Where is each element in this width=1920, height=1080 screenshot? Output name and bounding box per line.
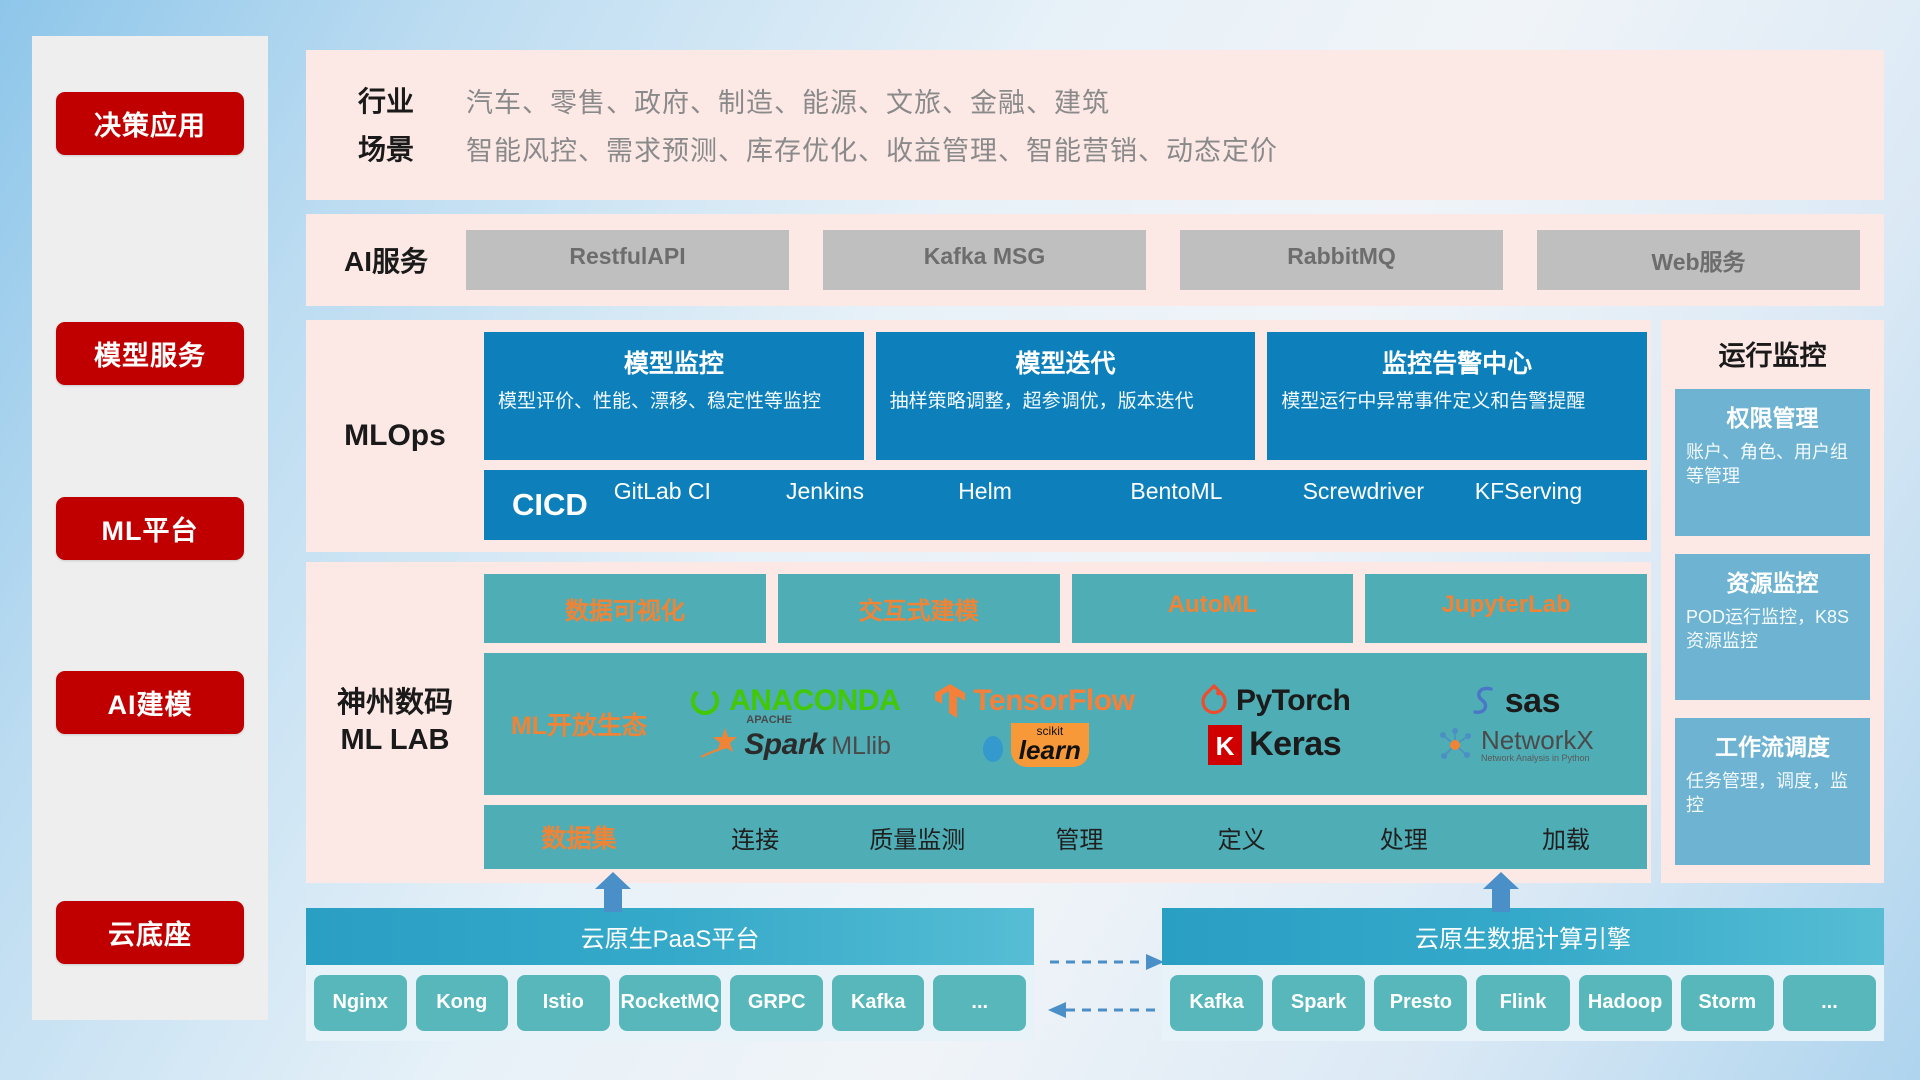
tool-chip-jupyterlab[interactable]: JupyterLab: [1365, 574, 1647, 643]
dataset-item-define[interactable]: 定义: [1161, 820, 1323, 855]
svg-text:K: K: [1216, 731, 1235, 761]
up-arrow-paas-icon: [590, 872, 636, 912]
ml-lab-label-line2: ML LAB: [337, 722, 453, 758]
logo-networkx-text: NetworkX: [1481, 727, 1594, 753]
logo-mllib-text: MLlib: [831, 732, 891, 761]
ml-ecosystem-logos: ANACONDA TensorFlow: [674, 682, 1635, 767]
mlops-card-desc: 模型评价、性能、漂移、稳定性等监控: [498, 389, 850, 414]
anaconda-icon: [688, 684, 722, 718]
tool-chip-interactive-modeling[interactable]: 交互式建模: [778, 574, 1060, 643]
ai-service-items: RestfulAPI Kafka MSG RabbitMQ Web服务: [466, 230, 1860, 290]
monitor-card-title: 资源监控: [1686, 564, 1859, 598]
logo-networkx: NetworkX Network Analysis in Python: [1436, 726, 1594, 764]
architecture-stack: 行业 汽车、零售、政府、制造、能源、文旅、金融、建筑 场景 智能风控、需求预测、…: [306, 50, 1884, 883]
monitor-card-desc: POD运行监控，K8S资源监控: [1686, 605, 1859, 653]
logo-spark-mllib: APACHE Spark MLlib: [697, 725, 891, 765]
logo-sas: sas: [1470, 682, 1560, 721]
engine-chip-storm[interactable]: Storm: [1681, 975, 1774, 1031]
mlops-card-desc: 模型运行中异常事件定义和告警提醒: [1281, 389, 1633, 414]
rail-item-ai-modeling[interactable]: AI建模: [56, 671, 244, 734]
cicd-item-bentoml[interactable]: BentoML: [1130, 478, 1302, 532]
dataset-label: 数据集: [484, 819, 674, 855]
ai-service-chip-restfulapi[interactable]: RestfulAPI: [466, 230, 789, 290]
layer-rail: 决策应用 模型服务 ML平台 AI建模 云底座: [32, 36, 268, 1020]
logo-keras: K Keras: [1208, 725, 1341, 765]
bidirectional-link-arrows-icon: [1046, 946, 1166, 1032]
dataset-items: 连接 质量监测 管理 定义 处理 加载: [674, 820, 1647, 855]
logo-tensorflow-text: TensorFlow: [973, 684, 1134, 718]
data-engine-title: 云原生数据计算引擎: [1162, 908, 1884, 965]
engine-chip-more[interactable]: ...: [1783, 975, 1876, 1031]
dataset-item-process[interactable]: 处理: [1323, 820, 1485, 855]
ai-modeling-content: 数据可视化 交互式建模 AutoML JupyterLab ML开放生态: [484, 574, 1651, 869]
logo-keras-text: Keras: [1249, 725, 1341, 764]
mlops-band: MLOps 模型监控 模型评价、性能、漂移、稳定性等监控 模型迭代 抽样策略调整…: [306, 320, 1651, 552]
modeling-tool-row: 数据可视化 交互式建模 AutoML JupyterLab: [484, 574, 1647, 643]
rail-slot: AI建模: [56, 615, 244, 789]
data-engine-chips: Kafka Spark Presto Flink Hadoop Storm ..…: [1162, 965, 1884, 1041]
scenario-values: 智能风控、需求预测、库存优化、收益管理、智能营销、动态定价: [466, 129, 1278, 168]
logo-anaconda: ANACONDA: [688, 684, 900, 718]
industry-row: 行业 汽车、零售、政府、制造、能源、文旅、金融、建筑: [306, 80, 1884, 120]
runtime-monitoring-panel: 运行监控 权限管理 账户、角色、用户组等管理 资源监控 POD运行监控，K8S资…: [1661, 320, 1884, 883]
dataset-item-load[interactable]: 加载: [1485, 820, 1647, 855]
mlops-card-model-iteration[interactable]: 模型迭代 抽样策略调整，超参调优，版本迭代: [876, 332, 1256, 460]
spark-icon: [697, 725, 737, 765]
engine-chip-spark[interactable]: Spark: [1272, 975, 1365, 1031]
middle-left-column: MLOps 模型监控 模型评价、性能、漂移、稳定性等监控 模型迭代 抽样策略调整…: [306, 320, 1651, 883]
paas-chip-rocketmq[interactable]: RocketMQ: [619, 975, 722, 1031]
sas-icon: [1470, 683, 1498, 719]
rail-item-ml-platform[interactable]: ML平台: [56, 497, 244, 560]
tool-chip-automl[interactable]: AutoML: [1072, 574, 1354, 643]
monitor-card-resource[interactable]: 资源监控 POD运行监控，K8S资源监控: [1675, 554, 1870, 701]
cicd-title: CICD: [484, 487, 614, 523]
cicd-item-gitlab-ci[interactable]: GitLab CI: [614, 478, 786, 532]
logo-learn-text: learn: [1019, 737, 1081, 763]
logo-scikit-learn: scikit learn: [980, 723, 1089, 767]
mlops-content: 模型监控 模型评价、性能、漂移、稳定性等监控 模型迭代 抽样策略调整，超参调优，…: [484, 332, 1651, 540]
ai-service-chip-web-service[interactable]: Web服务: [1537, 230, 1860, 290]
rail-item-decision-apps[interactable]: 决策应用: [56, 92, 244, 155]
ml-ecosystem-label: ML开放生态: [484, 706, 674, 742]
engine-chip-flink[interactable]: Flink: [1476, 975, 1569, 1031]
mlops-card-alert-center[interactable]: 监控告警中心 模型运行中异常事件定义和告警提醒: [1267, 332, 1647, 460]
dataset-item-connect[interactable]: 连接: [674, 820, 836, 855]
ml-lab-label: 神州数码 ML LAB: [306, 574, 484, 869]
logo-tensorflow: TensorFlow: [934, 682, 1134, 720]
mlops-card-desc: 抽样策略调整，超参调优，版本迭代: [890, 389, 1242, 414]
cloud-base-zone: 云原生PaaS平台 Nginx Kong Istio RocketMQ GRPC…: [306, 890, 1884, 1040]
cicd-item-helm[interactable]: Helm: [958, 478, 1130, 532]
ml-ecosystem-row: ML开放生态 ANACONDA: [484, 653, 1647, 795]
paas-chip-kafka[interactable]: Kafka: [832, 975, 925, 1031]
ml-lab-label-line1: 神州数码: [337, 685, 453, 721]
logo-spark-text: Spark: [744, 728, 825, 761]
monitor-card-permission[interactable]: 权限管理 账户、角色、用户组等管理: [1675, 389, 1870, 536]
data-engine-group: 云原生数据计算引擎 Kafka Spark Presto Flink Hadoo…: [1162, 908, 1884, 1041]
ai-service-label: AI服务: [306, 240, 466, 280]
mlops-cards: 模型监控 模型评价、性能、漂移、稳定性等监控 模型迭代 抽样策略调整，超参调优，…: [484, 332, 1647, 460]
cicd-item-screwdriver[interactable]: Screwdriver: [1303, 478, 1475, 532]
logo-pytorch-text: PyTorch: [1236, 684, 1350, 718]
mlops-card-title: 模型迭代: [890, 344, 1242, 380]
paas-chip-istio[interactable]: Istio: [517, 975, 610, 1031]
ai-service-chip-rabbitmq[interactable]: RabbitMQ: [1180, 230, 1503, 290]
cicd-items: GitLab CI Jenkins Helm BentoML Screwdriv…: [614, 478, 1647, 532]
rail-item-cloud-base[interactable]: 云底座: [56, 901, 244, 964]
industry-values: 汽车、零售、政府、制造、能源、文旅、金融、建筑: [466, 81, 1110, 120]
engine-chip-kafka[interactable]: Kafka: [1170, 975, 1263, 1031]
ai-service-band: AI服务 RestfulAPI Kafka MSG RabbitMQ Web服务: [306, 214, 1884, 306]
ai-modeling-band: 神州数码 ML LAB 数据可视化 交互式建模 AutoML JupyterLa…: [306, 562, 1651, 883]
mlops-card-model-monitoring[interactable]: 模型监控 模型评价、性能、漂移、稳定性等监控: [484, 332, 864, 460]
decision-apps-band: 行业 汽车、零售、政府、制造、能源、文旅、金融、建筑 场景 智能风控、需求预测、…: [306, 50, 1884, 200]
keras-icon: K: [1208, 725, 1242, 765]
paas-chip-grpc[interactable]: GRPC: [730, 975, 823, 1031]
pytorch-icon: [1199, 683, 1229, 719]
logo-networkx-subtext: Network Analysis in Python: [1481, 753, 1594, 763]
paas-chip-nginx[interactable]: Nginx: [314, 975, 407, 1031]
logo-spark-apache-text: APACHE: [746, 714, 792, 726]
runtime-monitoring-title: 运行监控: [1675, 334, 1870, 373]
cicd-item-jenkins[interactable]: Jenkins: [786, 478, 958, 532]
cicd-item-kfserving[interactable]: KFServing: [1475, 478, 1647, 532]
mlops-card-title: 模型监控: [498, 344, 850, 380]
monitor-card-title: 权限管理: [1686, 399, 1859, 433]
mlops-card-title: 监控告警中心: [1281, 344, 1633, 380]
monitor-card-desc: 账户、角色、用户组等管理: [1686, 440, 1859, 488]
paas-title: 云原生PaaS平台: [306, 908, 1034, 965]
scenario-row: 场景 智能风控、需求预测、库存优化、收益管理、智能营销、动态定价: [306, 128, 1884, 168]
tensorflow-icon: [934, 682, 966, 720]
engine-chip-hadoop[interactable]: Hadoop: [1579, 975, 1672, 1031]
networkx-icon: [1436, 726, 1474, 764]
scenario-label: 场景: [306, 128, 466, 168]
middle-zone: MLOps 模型监控 模型评价、性能、漂移、稳定性等监控 模型迭代 抽样策略调整…: [306, 320, 1884, 883]
rail-item-model-service[interactable]: 模型服务: [56, 322, 244, 385]
rail-slot: ML平台: [56, 441, 244, 615]
engine-chip-presto[interactable]: Presto: [1374, 975, 1467, 1031]
paas-chip-kong[interactable]: Kong: [416, 975, 509, 1031]
tool-chip-data-visualization[interactable]: 数据可视化: [484, 574, 766, 643]
rail-slot: 模型服务: [56, 266, 244, 440]
dataset-item-quality-monitor[interactable]: 质量监测: [836, 820, 998, 855]
dataset-item-manage[interactable]: 管理: [998, 820, 1160, 855]
up-arrow-engine-icon: [1478, 872, 1524, 912]
rail-slot: 决策应用: [56, 92, 244, 266]
monitor-card-workflow[interactable]: 工作流调度 任务管理，调度，监控: [1675, 718, 1870, 865]
ai-service-chip-kafka-msg[interactable]: Kafka MSG: [823, 230, 1146, 290]
paas-chip-more[interactable]: ...: [933, 975, 1026, 1031]
monitor-card-title: 工作流调度: [1686, 728, 1859, 762]
logo-sas-text: sas: [1505, 682, 1560, 721]
monitor-card-desc: 任务管理，调度，监控: [1686, 769, 1859, 817]
cicd-bar: CICD GitLab CI Jenkins Helm BentoML Scre…: [484, 470, 1647, 540]
rail-slot: 云底座: [56, 790, 244, 964]
dataset-row: 数据集 连接 质量监测 管理 定义 处理 加载: [484, 805, 1647, 869]
mlops-label: MLOps: [306, 332, 484, 540]
industry-label: 行业: [306, 80, 466, 120]
logo-pytorch: PyTorch: [1199, 683, 1350, 719]
paas-chips: Nginx Kong Istio RocketMQ GRPC Kafka ...: [306, 965, 1034, 1041]
paas-group: 云原生PaaS平台 Nginx Kong Istio RocketMQ GRPC…: [306, 908, 1034, 1041]
